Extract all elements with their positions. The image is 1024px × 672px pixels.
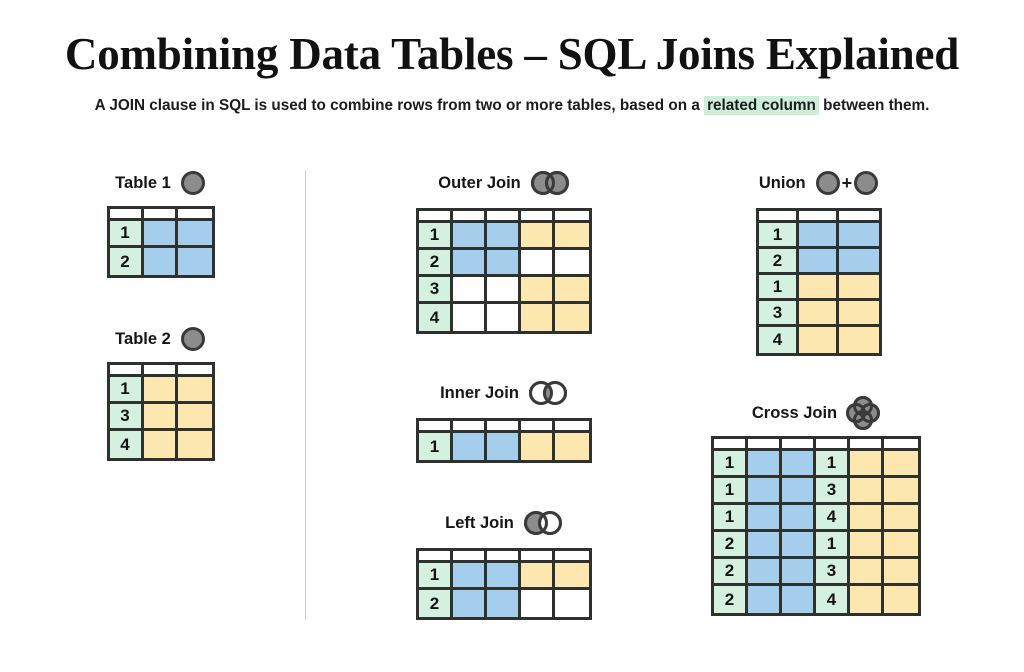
data-cell bbox=[782, 559, 816, 586]
table-header-cell bbox=[144, 365, 178, 377]
block-outer-join: Outer Join1234 bbox=[398, 168, 610, 334]
data-cell bbox=[884, 586, 918, 613]
data-cell bbox=[487, 223, 521, 250]
key-cell-secondary: 4 bbox=[816, 505, 850, 532]
table-header-cell bbox=[850, 439, 884, 451]
data-cell bbox=[555, 250, 589, 277]
data-cell bbox=[453, 563, 487, 590]
key-cell-secondary: 4 bbox=[816, 586, 850, 613]
data-cell bbox=[487, 590, 521, 617]
data-cell bbox=[839, 301, 879, 327]
data-cell bbox=[178, 248, 212, 275]
table-row: 2 bbox=[419, 250, 589, 277]
data-cell bbox=[884, 559, 918, 586]
subtitle-text-before: A JOIN clause in SQL is used to combine … bbox=[95, 97, 704, 114]
table-header-cell bbox=[839, 211, 879, 223]
data-cell bbox=[453, 590, 487, 617]
data-cell bbox=[521, 223, 555, 250]
column-divider bbox=[305, 170, 306, 620]
key-cell: 2 bbox=[759, 249, 799, 275]
table-header-cell bbox=[178, 209, 212, 221]
table-header-row bbox=[419, 211, 589, 223]
table-header-row bbox=[419, 551, 589, 563]
inner-join-title: Inner Join bbox=[440, 384, 519, 403]
circle-filled-icon bbox=[180, 326, 206, 352]
data-cell bbox=[487, 277, 521, 304]
data-cell bbox=[144, 404, 178, 431]
key-cell: 1 bbox=[419, 563, 453, 590]
key-cell: 4 bbox=[759, 327, 799, 353]
data-cell bbox=[782, 478, 816, 505]
key-cell: 1 bbox=[110, 221, 144, 248]
data-cell bbox=[839, 327, 879, 353]
key-cell: 2 bbox=[714, 586, 748, 613]
key-cell: 1 bbox=[419, 433, 453, 460]
table-header-cell bbox=[453, 551, 487, 563]
data-cell bbox=[453, 223, 487, 250]
data-cell bbox=[799, 301, 839, 327]
table-header-row bbox=[110, 209, 212, 221]
data-cell bbox=[782, 505, 816, 532]
data-cell bbox=[521, 304, 555, 331]
data-cell bbox=[555, 563, 589, 590]
table-header-cell bbox=[178, 365, 212, 377]
table-row: 4 bbox=[759, 327, 879, 353]
union-operator: + bbox=[842, 174, 853, 192]
subtitle-highlight-related-column: related column bbox=[704, 96, 819, 115]
venn-inner-join-icon bbox=[528, 379, 568, 407]
data-cell bbox=[799, 249, 839, 275]
table-row: 13 bbox=[714, 478, 918, 505]
key-cell: 1 bbox=[714, 451, 748, 478]
table-row: 11 bbox=[714, 451, 918, 478]
data-cell bbox=[487, 250, 521, 277]
data-cell bbox=[453, 433, 487, 460]
key-cell: 2 bbox=[419, 250, 453, 277]
table-row: 24 bbox=[714, 586, 918, 613]
table-header-cell bbox=[521, 551, 555, 563]
table-header-cell bbox=[759, 211, 799, 223]
data-cell bbox=[748, 532, 782, 559]
data-cell bbox=[144, 377, 178, 404]
key-cell: 3 bbox=[110, 404, 144, 431]
data-cell bbox=[555, 304, 589, 331]
block-table-1: Table 112 bbox=[88, 168, 233, 278]
key-cell: 1 bbox=[714, 505, 748, 532]
key-cell: 1 bbox=[110, 377, 144, 404]
union-title: Union bbox=[759, 174, 806, 193]
data-cell bbox=[850, 451, 884, 478]
key-cell: 4 bbox=[110, 431, 144, 458]
data-cell bbox=[850, 505, 884, 532]
venn-outer-join-icon bbox=[530, 169, 570, 197]
table-header-cell bbox=[555, 211, 589, 223]
page-subtitle: A JOIN clause in SQL is used to combine … bbox=[0, 97, 1024, 115]
block-inner-join: Inner Join1 bbox=[398, 378, 610, 463]
table-row: 1 bbox=[419, 223, 589, 250]
data-cell bbox=[850, 532, 884, 559]
data-cell bbox=[884, 478, 918, 505]
data-cell bbox=[521, 563, 555, 590]
data-cell bbox=[799, 327, 839, 353]
data-cell bbox=[884, 532, 918, 559]
key-cell: 3 bbox=[419, 277, 453, 304]
data-cell bbox=[748, 505, 782, 532]
table-row: 2 bbox=[110, 248, 212, 275]
data-cell bbox=[748, 559, 782, 586]
left-join-table: 12 bbox=[416, 548, 592, 620]
table-header-cell bbox=[799, 211, 839, 223]
data-cell bbox=[453, 304, 487, 331]
data-cell bbox=[144, 431, 178, 458]
data-cell bbox=[178, 377, 212, 404]
key-cell: 2 bbox=[714, 532, 748, 559]
table-header-row bbox=[759, 211, 879, 223]
table-row: 3 bbox=[759, 301, 879, 327]
data-cell bbox=[521, 250, 555, 277]
data-cell bbox=[839, 275, 879, 301]
block-union: Union+12134 bbox=[739, 168, 899, 356]
table-row: 3 bbox=[110, 404, 212, 431]
key-cell: 1 bbox=[759, 275, 799, 301]
table-header-cell bbox=[714, 439, 748, 451]
data-cell bbox=[782, 586, 816, 613]
circle-filled-icon bbox=[180, 170, 206, 196]
rosette-cross-join-icon bbox=[846, 396, 880, 430]
table-row: 1 bbox=[759, 223, 879, 249]
data-cell bbox=[487, 304, 521, 331]
left-join-header: Left Join bbox=[398, 508, 610, 538]
data-cell bbox=[850, 559, 884, 586]
data-cell bbox=[839, 223, 879, 249]
page-title: Combining Data Tables – SQL Joins Explai… bbox=[0, 28, 1024, 80]
table-row: 4 bbox=[419, 304, 589, 331]
table-header-cell bbox=[487, 421, 521, 433]
table-header-cell bbox=[144, 209, 178, 221]
data-cell bbox=[555, 590, 589, 617]
inner-join-table: 1 bbox=[416, 418, 592, 463]
key-cell: 2 bbox=[714, 559, 748, 586]
table2-title: Table 2 bbox=[115, 330, 171, 349]
table-header-row bbox=[110, 365, 212, 377]
key-cell-secondary: 1 bbox=[816, 451, 850, 478]
table-row: 23 bbox=[714, 559, 918, 586]
data-cell bbox=[748, 586, 782, 613]
cross-join-header: Cross Join bbox=[706, 398, 926, 428]
data-cell bbox=[453, 277, 487, 304]
key-cell-secondary: 1 bbox=[816, 532, 850, 559]
key-cell-secondary: 3 bbox=[816, 559, 850, 586]
table-header-cell bbox=[748, 439, 782, 451]
data-cell bbox=[453, 250, 487, 277]
data-cell bbox=[555, 433, 589, 460]
block-cross-join: Cross Join111314212324 bbox=[706, 398, 926, 616]
table-header-cell bbox=[419, 421, 453, 433]
key-cell: 2 bbox=[419, 590, 453, 617]
table-header-row bbox=[419, 421, 589, 433]
table-row: 3 bbox=[419, 277, 589, 304]
data-cell bbox=[178, 404, 212, 431]
table1-title: Table 1 bbox=[115, 174, 171, 193]
table-header-cell bbox=[521, 421, 555, 433]
data-cell bbox=[521, 277, 555, 304]
table-row: 4 bbox=[110, 431, 212, 458]
table-row: 1 bbox=[419, 433, 589, 460]
data-cell bbox=[884, 451, 918, 478]
table-header-cell bbox=[816, 439, 850, 451]
outer-join-header: Outer Join bbox=[398, 168, 610, 198]
key-cell: 3 bbox=[759, 301, 799, 327]
table-header-cell bbox=[110, 365, 144, 377]
block-table-2: Table 2134 bbox=[88, 324, 233, 461]
table-header-cell bbox=[419, 211, 453, 223]
key-cell: 4 bbox=[419, 304, 453, 331]
data-cell bbox=[555, 277, 589, 304]
table-row: 21 bbox=[714, 532, 918, 559]
data-cell bbox=[799, 275, 839, 301]
table-header-cell bbox=[487, 551, 521, 563]
outer-join-title: Outer Join bbox=[438, 174, 521, 193]
data-cell bbox=[178, 221, 212, 248]
data-cell bbox=[839, 249, 879, 275]
key-cell-secondary: 3 bbox=[816, 478, 850, 505]
data-cell bbox=[748, 478, 782, 505]
table-row: 2 bbox=[759, 249, 879, 275]
table-header-cell bbox=[453, 211, 487, 223]
table-header-cell bbox=[884, 439, 918, 451]
data-cell bbox=[799, 223, 839, 249]
data-cell bbox=[748, 451, 782, 478]
data-cell bbox=[521, 433, 555, 460]
cross-join-title: Cross Join bbox=[752, 404, 837, 423]
table-row: 2 bbox=[419, 590, 589, 617]
key-cell: 1 bbox=[714, 478, 748, 505]
outer-join-table: 1234 bbox=[416, 208, 592, 334]
table-header-cell bbox=[487, 211, 521, 223]
key-cell: 1 bbox=[759, 223, 799, 249]
table-row: 1 bbox=[110, 221, 212, 248]
data-cell bbox=[884, 505, 918, 532]
block-left-join: Left Join12 bbox=[398, 508, 610, 620]
table-header-cell bbox=[419, 551, 453, 563]
inner-join-header: Inner Join bbox=[398, 378, 610, 408]
data-cell bbox=[487, 563, 521, 590]
cross-join-table: 111314212324 bbox=[711, 436, 921, 616]
data-cell bbox=[521, 590, 555, 617]
data-cell bbox=[144, 248, 178, 275]
data-cell bbox=[782, 532, 816, 559]
data-cell bbox=[487, 433, 521, 460]
table-header-cell bbox=[555, 421, 589, 433]
table-row: 1 bbox=[110, 377, 212, 404]
table-header-cell bbox=[782, 439, 816, 451]
table-header-row bbox=[714, 439, 918, 451]
table-row: 14 bbox=[714, 505, 918, 532]
union-header: Union+ bbox=[739, 168, 899, 198]
data-cell bbox=[782, 451, 816, 478]
venn-left-join-icon bbox=[523, 509, 563, 537]
data-cell bbox=[178, 431, 212, 458]
table1-table: 12 bbox=[107, 206, 215, 278]
key-cell: 2 bbox=[110, 248, 144, 275]
data-cell bbox=[555, 223, 589, 250]
circle-plus-circle-icon: + bbox=[815, 170, 880, 196]
table-header-cell bbox=[110, 209, 144, 221]
left-join-title: Left Join bbox=[445, 514, 514, 533]
subtitle-text-after: between them. bbox=[819, 97, 930, 114]
data-cell bbox=[850, 586, 884, 613]
union-table: 12134 bbox=[756, 208, 882, 356]
key-cell: 1 bbox=[419, 223, 453, 250]
table2-table: 134 bbox=[107, 362, 215, 461]
table-header-cell bbox=[555, 551, 589, 563]
table-header-cell bbox=[453, 421, 487, 433]
table-row: 1 bbox=[419, 563, 589, 590]
data-cell bbox=[850, 478, 884, 505]
table-header-cell bbox=[521, 211, 555, 223]
data-cell bbox=[144, 221, 178, 248]
table-row: 1 bbox=[759, 275, 879, 301]
table1-header: Table 1 bbox=[88, 168, 233, 198]
table2-header: Table 2 bbox=[88, 324, 233, 354]
